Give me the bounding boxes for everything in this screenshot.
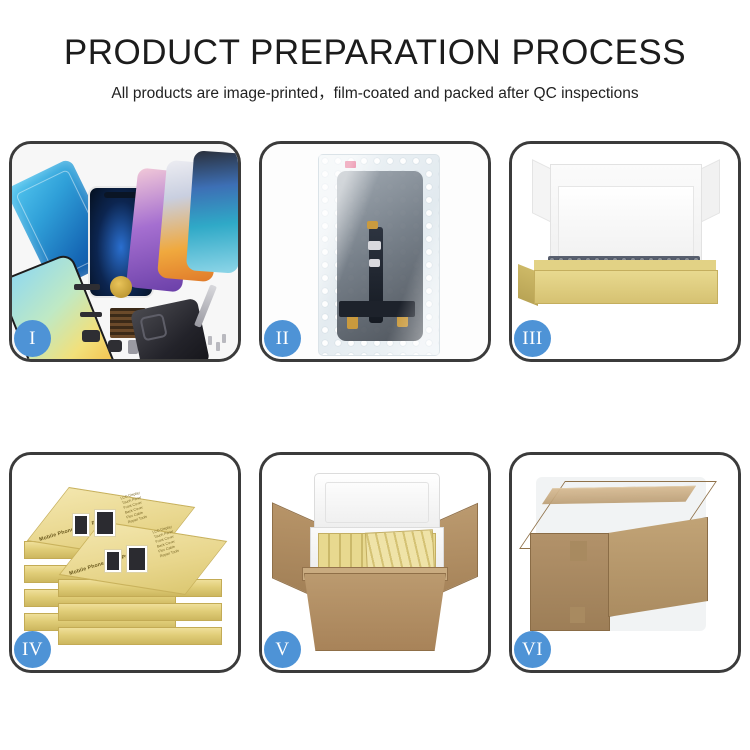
flex-chip-icon — [368, 241, 381, 250]
foam-lid-icon — [314, 473, 440, 533]
product-preparation-process-page: PRODUCT PREPARATION PROCESS All products… — [0, 0, 750, 750]
step-badge-2: II — [264, 320, 301, 357]
packing-tape-icon — [542, 486, 696, 504]
foam-sheet-icon — [558, 186, 694, 266]
stacked-box-edge — [58, 627, 222, 645]
vibration-motor-icon — [110, 276, 132, 298]
gold-contact-icon — [367, 221, 378, 229]
step-badge-6: VI — [514, 631, 551, 668]
box-tray-front-icon — [534, 270, 718, 304]
stacked-box-edge — [58, 603, 222, 621]
battery-part-icon — [108, 340, 122, 352]
carton-handle-tab-icon — [570, 541, 587, 561]
speaker-part-icon — [74, 284, 100, 290]
process-step-panel-3[interactable]: III — [509, 141, 741, 362]
camera-module-icon — [82, 330, 100, 342]
process-step-panel-2[interactable]: II — [259, 141, 491, 362]
box-phone-thumb — [104, 549, 122, 573]
step-badge-1: I — [14, 320, 51, 357]
screw-icon — [216, 342, 220, 351]
connector-part-icon — [80, 312, 102, 317]
page-title: PRODUCT PREPARATION PROCESS — [0, 0, 750, 72]
phone-blue-icon — [186, 150, 238, 273]
pink-label-icon — [345, 161, 356, 168]
flex-chip-icon — [369, 259, 380, 267]
page-header: PRODUCT PREPARATION PROCESS All products… — [0, 0, 750, 103]
box-phone-thumb — [94, 509, 116, 537]
step-badge-3: III — [514, 320, 551, 357]
kraft-box-stack-icon: Mobile Phone Spare Parts Mobile Phone Sp… — [20, 479, 232, 659]
process-step-panel-5[interactable]: V — [259, 452, 491, 673]
box-phone-thumb — [126, 545, 148, 573]
carton-body-icon — [304, 573, 446, 651]
phone-back-housing-icon — [130, 298, 210, 359]
step-badge-4: IV — [14, 631, 51, 668]
carton-right-face-icon — [608, 517, 708, 617]
lcd-driver-board-icon — [339, 301, 415, 317]
process-step-panel-1[interactable]: I — [9, 141, 241, 362]
process-step-grid: I II — [9, 141, 741, 680]
screw-icon — [222, 334, 226, 343]
box-phone-thumb — [72, 513, 90, 537]
bubble-wrap-bag-icon — [318, 154, 440, 356]
process-step-panel-4[interactable]: Mobile Phone Spare Parts Mobile Phone Sp… — [9, 452, 241, 673]
step-badge-5: V — [264, 631, 301, 668]
screw-icon — [208, 336, 212, 345]
process-step-panel-6[interactable]: VI — [509, 452, 741, 673]
page-subtitle: All products are image-printed，film-coat… — [0, 72, 750, 103]
carton-handle-tab-icon — [570, 607, 585, 623]
